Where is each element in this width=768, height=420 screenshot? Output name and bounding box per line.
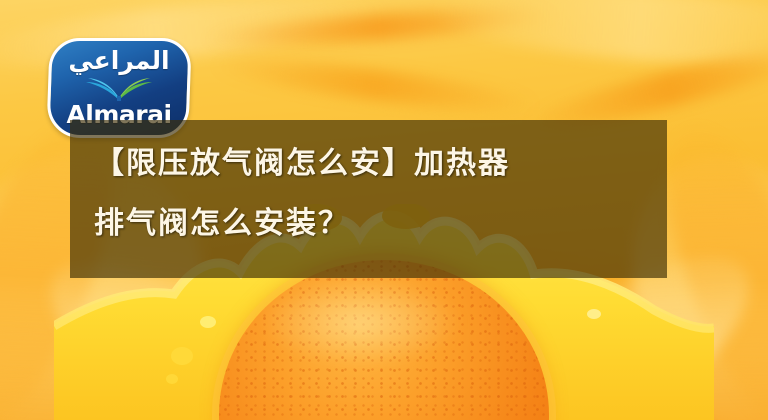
orange-streak: [209, 50, 540, 120]
logo-arabic-text: المراعي: [68, 48, 169, 73]
caption-overlay: 【限压放气阀怎么安】加热器 排气阀怎么安装？: [70, 120, 667, 278]
open-book-leaf-icon: [84, 76, 154, 101]
caption-line-1: 【限压放气阀怎么安】加热器: [94, 134, 647, 194]
caption-line-2: 排气阀怎么安装？: [94, 194, 647, 254]
image-canvas: المراعي Almarai 【限压放气阀怎么安】加热器 排气阀怎么安装？: [0, 0, 768, 420]
orange-highlight: [259, 279, 464, 366]
